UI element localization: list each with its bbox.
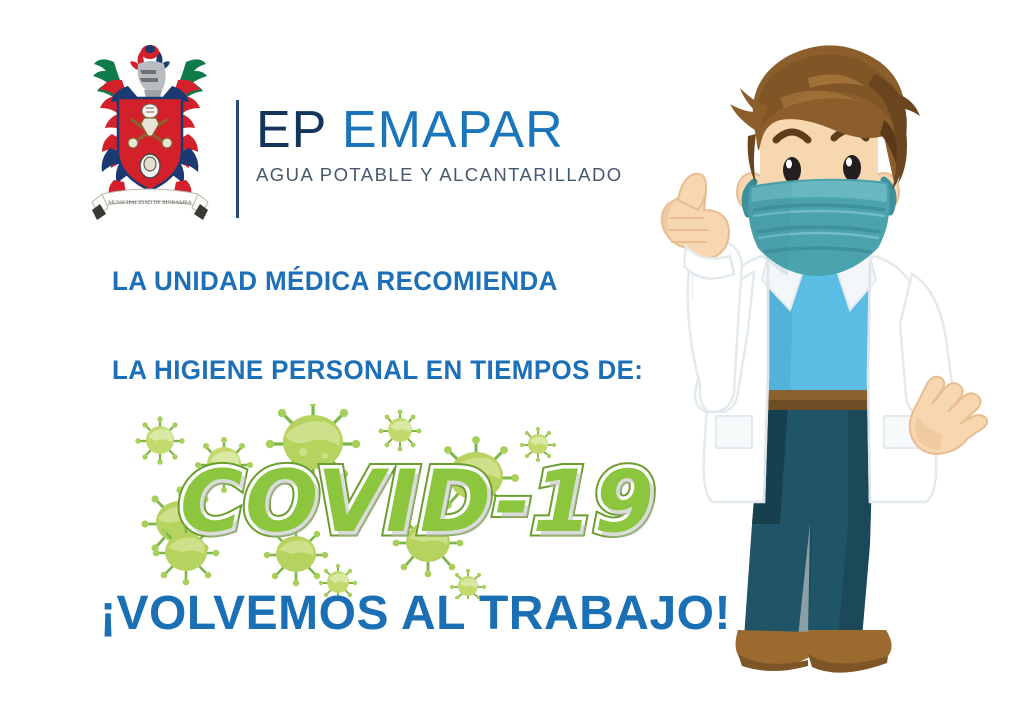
doctor-thumbs-up-hand: [662, 174, 729, 260]
virus-particle: [135, 416, 184, 464]
virus-particle: [379, 410, 422, 452]
escudo-riobamba-icon: MUNICIPALIDAD DE RIOBAMBA: [84, 38, 216, 224]
emapar-logo: MUNICIPALIDAD DE RIOBAMBA EP EMAPAR AGUA…: [84, 38, 564, 228]
svg-text:MUNICIPALIDAD DE RIOBAMBA: MUNICIPALIDAD DE RIOBAMBA: [108, 200, 192, 206]
doctor-eye-right: [843, 155, 861, 181]
covid-word: COVID-19: [180, 452, 656, 552]
logo-title-emapar: EMAPAR: [342, 101, 564, 159]
covid-graphic: COVID-19 COVID-19 COVID-19: [128, 404, 598, 599]
logo-wordmark: EP EMAPAR AGUA POTABLE Y ALCANTARILLADO: [256, 100, 566, 186]
poster-canvas: MUNICIPALIDAD DE RIOBAMBA EP EMAPAR AGUA…: [0, 0, 1024, 707]
doctor-illustration: [612, 24, 1024, 692]
crest-helmet: [130, 45, 170, 98]
doctor-eye-left: [783, 157, 801, 183]
logo-tagline: AGUA POTABLE Y ALCANTARILLADO: [256, 164, 566, 186]
headline-primary: LA UNIDAD MÉDICA RECOMIENDA: [112, 266, 558, 297]
crest-ribbon: MUNICIPALIDAD DE RIOBAMBA: [92, 189, 208, 220]
logo-title: EP EMAPAR: [256, 100, 566, 160]
logo-divider: [236, 100, 239, 218]
headline-secondary: LA HIGIENE PERSONAL EN TIEMPOS DE:: [112, 355, 643, 386]
logo-title-ep: EP: [256, 101, 326, 159]
